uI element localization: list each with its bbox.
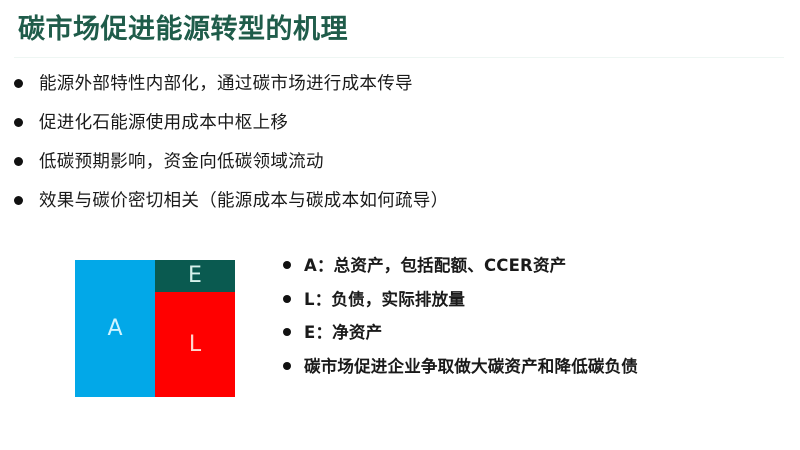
main-bullet-list: 能源外部特性内部化，通过碳市场进行成本传导 促进化石能源使用成本中枢上移 低碳预… xyxy=(14,70,754,226)
list-item: 碳市场促进企业争取做大碳资产和降低碳负债 xyxy=(283,354,783,381)
diagram-box-equity-label: E xyxy=(188,265,202,287)
list-item: 低碳预期影响，资金向低碳领域流动 xyxy=(14,148,754,176)
bullet-dot-icon xyxy=(283,295,291,303)
diagram-box-equity: E xyxy=(155,260,235,292)
bullet-dot-icon xyxy=(283,362,291,370)
bullet-dot-icon xyxy=(14,118,23,127)
bullet-dot-icon xyxy=(283,261,291,269)
legend-label: L：负债，实际排放量 xyxy=(304,287,465,314)
balance-sheet-diagram: A E L xyxy=(75,260,235,397)
diagram-box-liabilities-label: L xyxy=(189,334,201,356)
list-item: E：净资产 xyxy=(283,320,783,347)
legend-label: E：净资产 xyxy=(304,320,382,347)
bullet-label: 促进化石能源使用成本中枢上移 xyxy=(39,109,288,137)
legend-label: 碳市场促进企业争取做大碳资产和降低碳负债 xyxy=(304,354,638,381)
page-title: 碳市场促进能源转型的机理 xyxy=(18,14,348,46)
diagram-box-assets-label: A xyxy=(107,318,122,340)
list-item: L：负债，实际排放量 xyxy=(283,287,783,314)
bullet-dot-icon xyxy=(283,328,291,336)
bullet-label: 效果与碳价密切相关（能源成本与碳成本如何疏导） xyxy=(39,187,448,215)
slide-canvas: 碳市场促进能源转型的机理 能源外部特性内部化，通过碳市场进行成本传导 促进化石能… xyxy=(0,0,800,450)
bullet-dot-icon xyxy=(14,79,23,88)
list-item: 能源外部特性内部化，通过碳市场进行成本传导 xyxy=(14,70,754,98)
list-item: 效果与碳价密切相关（能源成本与碳成本如何疏导） xyxy=(14,187,754,215)
diagram-box-assets: A xyxy=(75,260,155,397)
bullet-dot-icon xyxy=(14,196,23,205)
bullet-label: 低碳预期影响，资金向低碳领域流动 xyxy=(39,148,324,176)
title-divider xyxy=(14,57,784,58)
diagram-box-liabilities: L xyxy=(155,292,235,397)
diagram-right-stack: E L xyxy=(155,260,235,397)
list-item: A：总资产，包括配额、CCER资产 xyxy=(283,253,783,280)
legend-label: A：总资产，包括配额、CCER资产 xyxy=(304,253,566,280)
bullet-label: 能源外部特性内部化，通过碳市场进行成本传导 xyxy=(39,70,413,98)
legend-bullet-list: A：总资产，包括配额、CCER资产 L：负债，实际排放量 E：净资产 碳市场促进… xyxy=(283,253,783,388)
list-item: 促进化石能源使用成本中枢上移 xyxy=(14,109,754,137)
bullet-dot-icon xyxy=(14,157,23,166)
